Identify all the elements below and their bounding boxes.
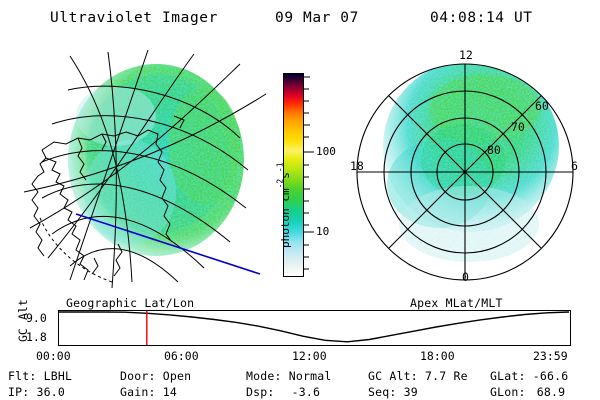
colorbar-exp-minus1: -1 (276, 162, 285, 172)
colorbar-axis-sym: s (279, 172, 292, 179)
aurora-emission-right (383, 60, 559, 262)
mlt-label-18: 18 (350, 159, 364, 173)
status-door-value: Open (163, 369, 192, 383)
latitude-label-70: 70 (511, 120, 525, 134)
x-tick-0000: 00:00 (36, 349, 71, 363)
geographic-panel (8, 42, 270, 294)
status-gcalt-value: 7.7 Re (425, 369, 468, 383)
status-gain: Gain: 14 (120, 385, 177, 399)
status-glon: GLon: 68.9 (490, 385, 565, 399)
status-mode: Mode: Normal (246, 369, 332, 383)
status-flt-value: LBHL (44, 369, 73, 383)
colorbar-ticks (304, 73, 316, 279)
mlt-grid (357, 64, 573, 280)
status-ip-value: 36.0 (37, 385, 66, 399)
x-tick-0600: 06:00 (164, 349, 199, 363)
x-tick-1800: 18:00 (420, 349, 455, 363)
y-tick-1-8: 1.8 (26, 330, 47, 344)
status-seq-value: 39 (404, 385, 418, 399)
status-ip: IP: 36.0 (8, 385, 65, 399)
status-mode-key: Mode: (246, 369, 282, 383)
mlt-dial-panel (343, 42, 593, 294)
instrument-title: Ultraviolet Imager (50, 10, 218, 26)
status-glat-value: -66.6 (533, 369, 569, 383)
status-door: Door: Open (120, 369, 191, 383)
status-flt-key: Flt: (8, 369, 37, 383)
status-gcalt: GC Alt: 7.7 Re (368, 369, 468, 383)
orbit-altitude-plot (58, 310, 571, 346)
observation-time: 04:08:14 UT (430, 10, 533, 26)
status-gcalt-key: GC Alt: (368, 369, 418, 383)
latitude-label-80: 80 (487, 143, 501, 157)
status-ip-key: IP: (8, 385, 29, 399)
status-flt: Flt: LBHL (8, 369, 72, 383)
status-dsp: Dsp: -3.6 (246, 385, 320, 399)
colorbar-axis-units: photon cm (279, 188, 292, 248)
status-mode-value: Normal (289, 369, 332, 383)
status-gain-key: Gain: (120, 385, 156, 399)
y-tick-9-0: 9.0 (26, 311, 47, 325)
mlt-label-12: 12 (459, 48, 473, 62)
status-seq: Seq: 39 (368, 385, 418, 399)
x-tick-1200: 12:00 (292, 349, 327, 363)
colorbar-exp-minus2: -2 (276, 179, 285, 189)
status-dsp-value: -3.6 (292, 385, 321, 399)
status-glat: GLat: -66.6 (490, 369, 568, 383)
mlt-label-0: 0 (462, 270, 469, 284)
latitude-label-60: 60 (535, 99, 549, 113)
status-gain-value: 14 (163, 385, 177, 399)
status-glat-key: GLat: (490, 369, 526, 383)
colorbar-tick-label-10: 10 (316, 225, 329, 238)
status-glon-value: 68.9 (537, 385, 566, 399)
status-dsp-key: Dsp: (246, 385, 275, 399)
orbit-plot-frame (59, 311, 571, 346)
colorbar-axis-title: photon cm-2s-1 (274, 162, 293, 248)
x-tick-2359: 23:59 (533, 349, 568, 363)
mlt-label-6: 6 (571, 159, 578, 173)
colorbar-tick-label-100: 100 (316, 145, 336, 158)
observation-date: 09 Mar 07 (275, 10, 359, 26)
status-glon-key: GLon: (490, 385, 526, 399)
status-door-key: Door: (120, 369, 156, 383)
status-seq-key: Seq: (368, 385, 397, 399)
right-panel-caption: Apex MLat/MLT (410, 296, 503, 310)
left-panel-caption: Geographic Lat/Lon (66, 296, 194, 310)
